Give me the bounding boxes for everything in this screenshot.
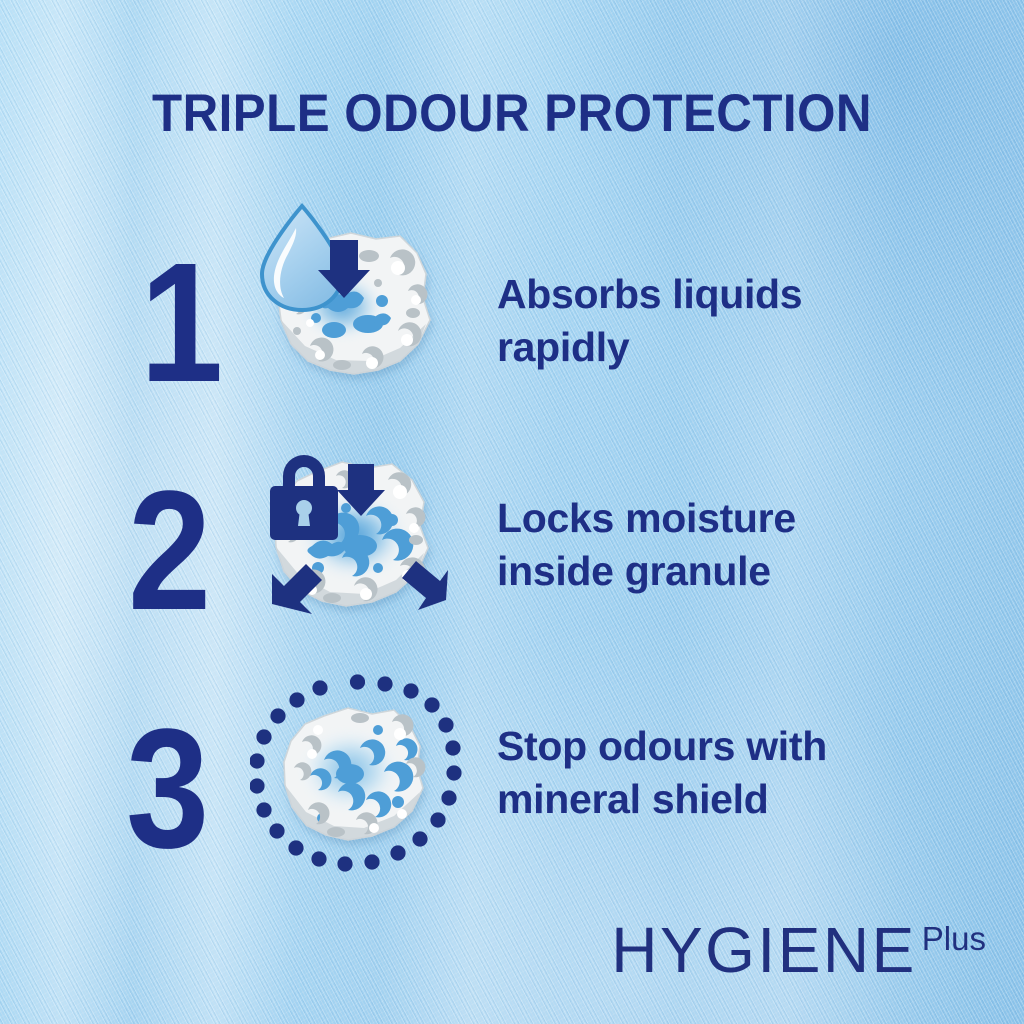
granule-padlock-illustration (250, 428, 465, 643)
step-row-1: 1 (0, 190, 1024, 420)
brand-logo-name: HYGIENE (611, 918, 917, 982)
poster-stage: TRIPLE ODOUR PROTECTION 1 (0, 0, 1024, 1024)
step-number-1: 1 (140, 238, 220, 408)
step-number-2: 2 (128, 466, 208, 636)
brand-logo-suffix: Plus (922, 922, 986, 955)
figure-granule-with-padlock (250, 428, 465, 643)
step-number-3: 3 (126, 704, 206, 874)
step-row-3: 3 (0, 660, 1024, 890)
poster-content: TRIPLE ODOUR PROTECTION 1 (0, 0, 1024, 1024)
step-row-2: 2 (0, 420, 1024, 650)
brand-logo: HYGIENE Plus (611, 918, 986, 982)
figure-granule-with-droplet (250, 198, 465, 413)
figure-granule-with-shield-ring (250, 668, 465, 883)
granule-droplet-illustration (250, 198, 465, 413)
page-title: TRIPLE ODOUR PROTECTION (36, 83, 988, 144)
step-text-3: Stop odours with mineral shield (497, 720, 827, 827)
step-text-1: Absorbs liquids rapidly (497, 268, 802, 375)
step-text-2: Locks moisture inside granule (497, 492, 796, 599)
granule-shield-illustration (250, 668, 465, 883)
